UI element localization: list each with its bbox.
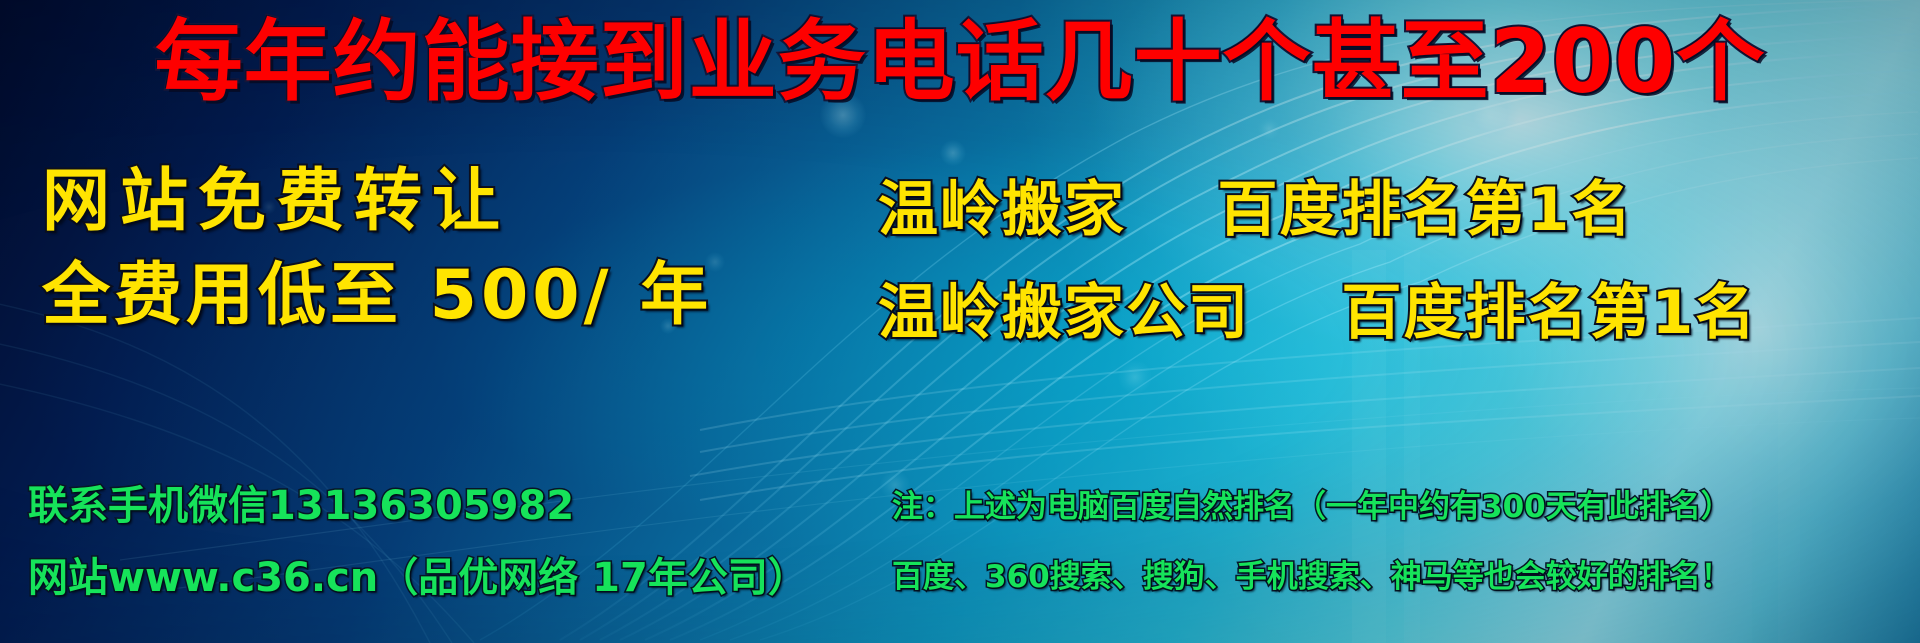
bokeh-dot	[1258, 118, 1280, 140]
ranking-line-1: 温岭搬家 百度排名第1名	[878, 180, 1633, 240]
promo-banner: 每年约能接到业务电话几十个甚至200个 网站免费转让 全费用低至 500/ 年 …	[0, 0, 1920, 643]
note-line-1: 注：上述为电脑百度自然排名（一年中约有300天有此排名）	[892, 492, 1732, 523]
offer-line-2: 全费用低至 500/ 年	[42, 262, 712, 330]
offer-line-1: 网站免费转让	[42, 168, 510, 236]
note-line-2: 百度、360搜索、搜狗、手机搜索、神马等也会较好的排名！	[892, 562, 1732, 593]
contact-phone-wechat: 联系手机微信13136305982	[28, 486, 574, 526]
bokeh-dot	[1118, 360, 1152, 394]
banner-text-layer: 每年约能接到业务电话几十个甚至200个 网站免费转让 全费用低至 500/ 年 …	[0, 0, 1920, 643]
contact-website: 网站www.c36.cn（品优网络 17年公司）	[28, 558, 808, 598]
bokeh-dot	[940, 140, 966, 166]
headline-text: 每年约能接到业务电话几十个甚至200个	[0, 18, 1920, 106]
ranking-line-2: 温岭搬家公司 百度排名第1名	[878, 283, 1757, 343]
